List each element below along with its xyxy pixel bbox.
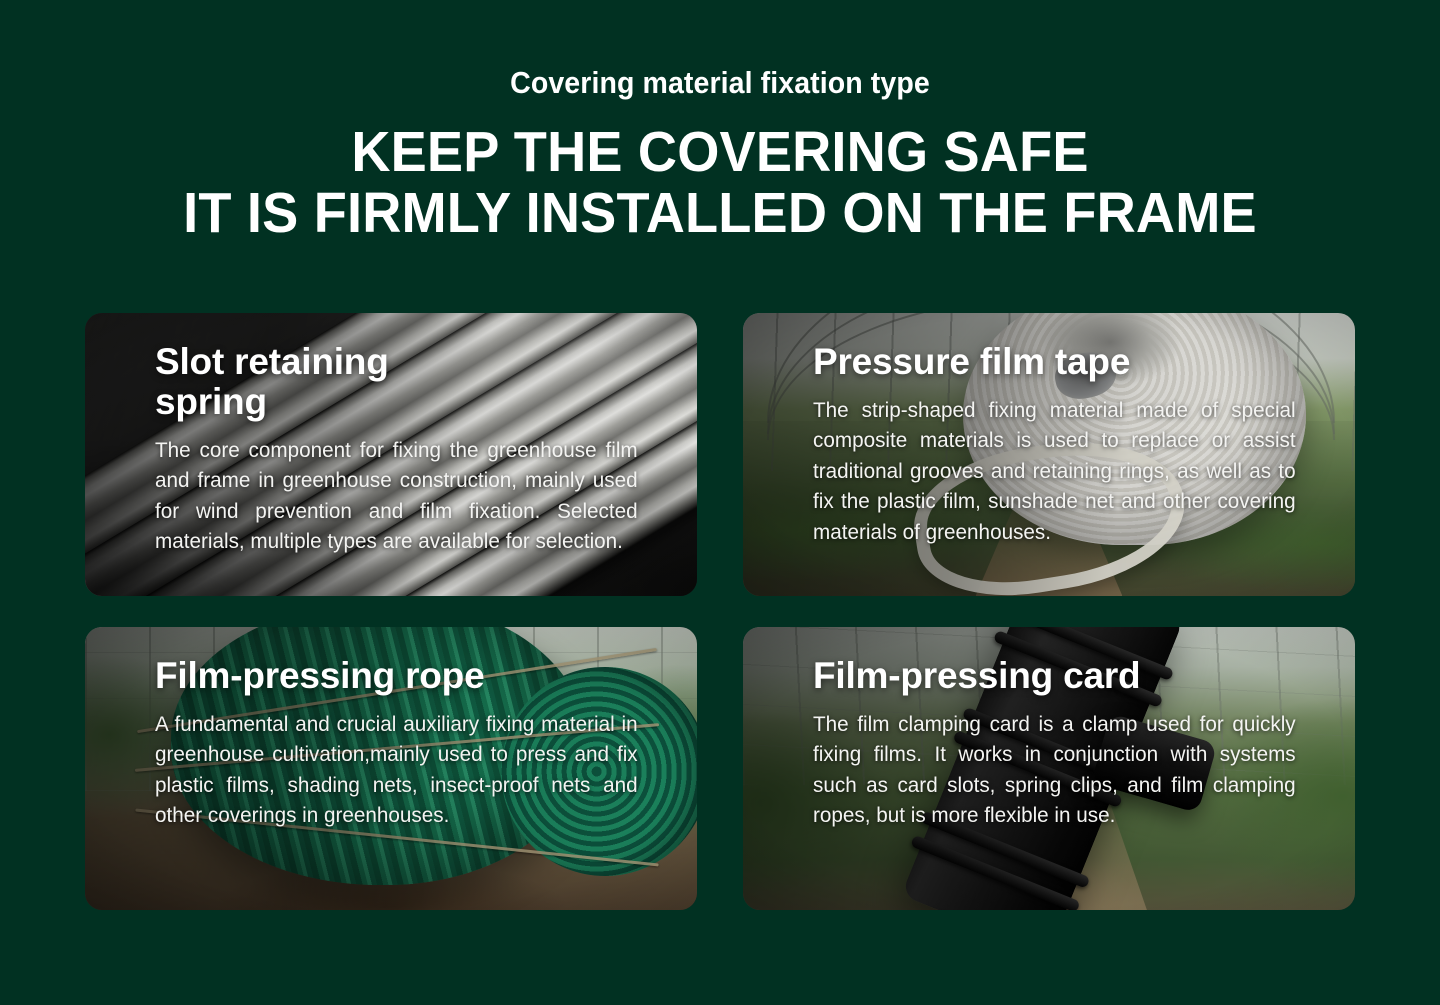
card-description: The strip-shaped fixing material made of… [813, 396, 1296, 548]
card-title: Film-pressing rope [155, 656, 485, 696]
feature-card-slot-retaining-spring[interactable]: Slot retaining spring The core component… [85, 313, 697, 596]
headline-line-1: KEEP THE COVERING SAFE [36, 122, 1404, 183]
feature-card-pressure-film-tape[interactable]: Pressure film tape The strip-shaped fixi… [743, 313, 1355, 596]
poster-root: Covering material fixation type KEEP THE… [0, 0, 1440, 1005]
headline-line-2: IT IS FIRMLY INSTALLED ON THE FRAME [36, 183, 1404, 244]
card-description: The core component for fixing the greenh… [155, 436, 638, 558]
card-text-block: Slot retaining spring The core component… [155, 342, 645, 558]
card-text-block: Film-pressing card The film clamping car… [813, 656, 1303, 832]
poster-eyebrow: Covering material fixation type [58, 0, 1383, 100]
card-description: The film clamping card is a clamp used f… [813, 710, 1296, 832]
card-description: A fundamental and crucial auxiliary fixi… [155, 710, 638, 832]
card-title: Film-pressing card [813, 656, 1143, 696]
card-text-block: Pressure film tape The strip-shaped fixi… [813, 342, 1303, 548]
card-title: Slot retaining spring [155, 342, 485, 422]
card-text-block: Film-pressing rope A fundamental and cru… [155, 656, 645, 832]
poster-headline: KEEP THE COVERING SAFE IT IS FIRMLY INST… [36, 100, 1404, 244]
poster-header: Covering material fixation type KEEP THE… [0, 0, 1440, 244]
feature-card-film-pressing-rope[interactable]: Film-pressing rope A fundamental and cru… [85, 627, 697, 910]
feature-card-film-pressing-card[interactable]: Film-pressing card The film clamping car… [743, 627, 1355, 910]
feature-card-grid: Slot retaining spring The core component… [85, 313, 1355, 910]
card-title: Pressure film tape [813, 342, 1143, 382]
